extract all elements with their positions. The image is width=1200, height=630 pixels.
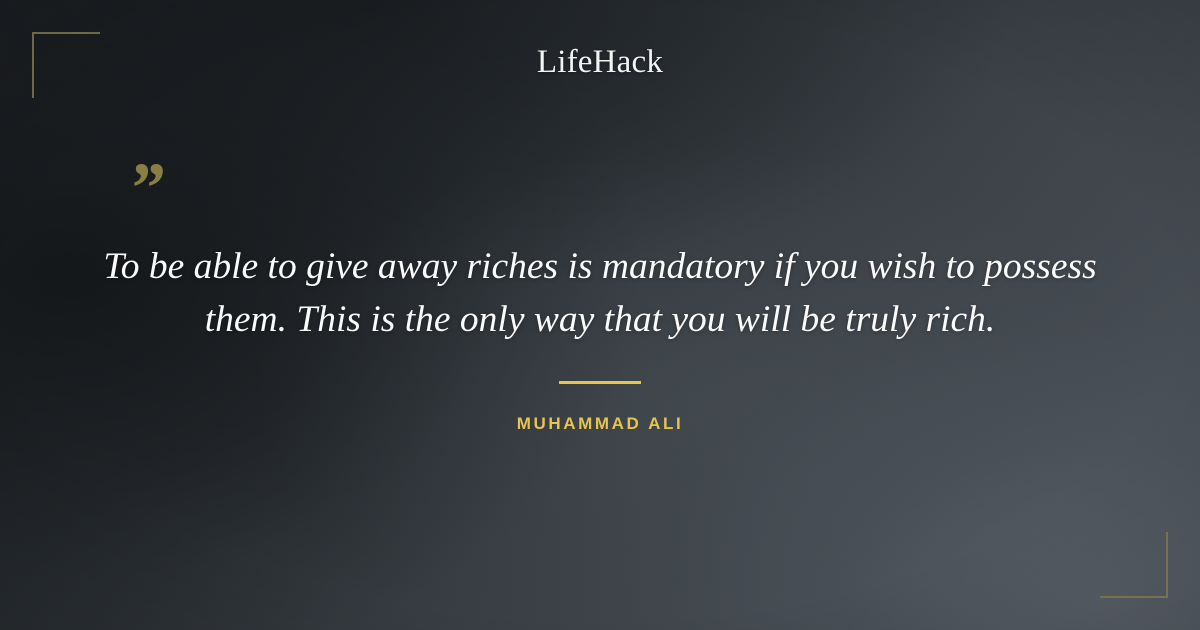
quote-attribution: MUHAMMAD ALI (0, 414, 1200, 434)
quote-card: LifeHack ” To be able to give away riche… (0, 0, 1200, 630)
brand-logo: LifeHack (0, 44, 1200, 81)
card-content: LifeHack ” To be able to give away riche… (0, 0, 1200, 630)
quotation-mark-icon: ” (128, 152, 164, 224)
divider-rule (559, 381, 641, 384)
quote-text: To be able to give away riches is mandat… (92, 240, 1108, 346)
